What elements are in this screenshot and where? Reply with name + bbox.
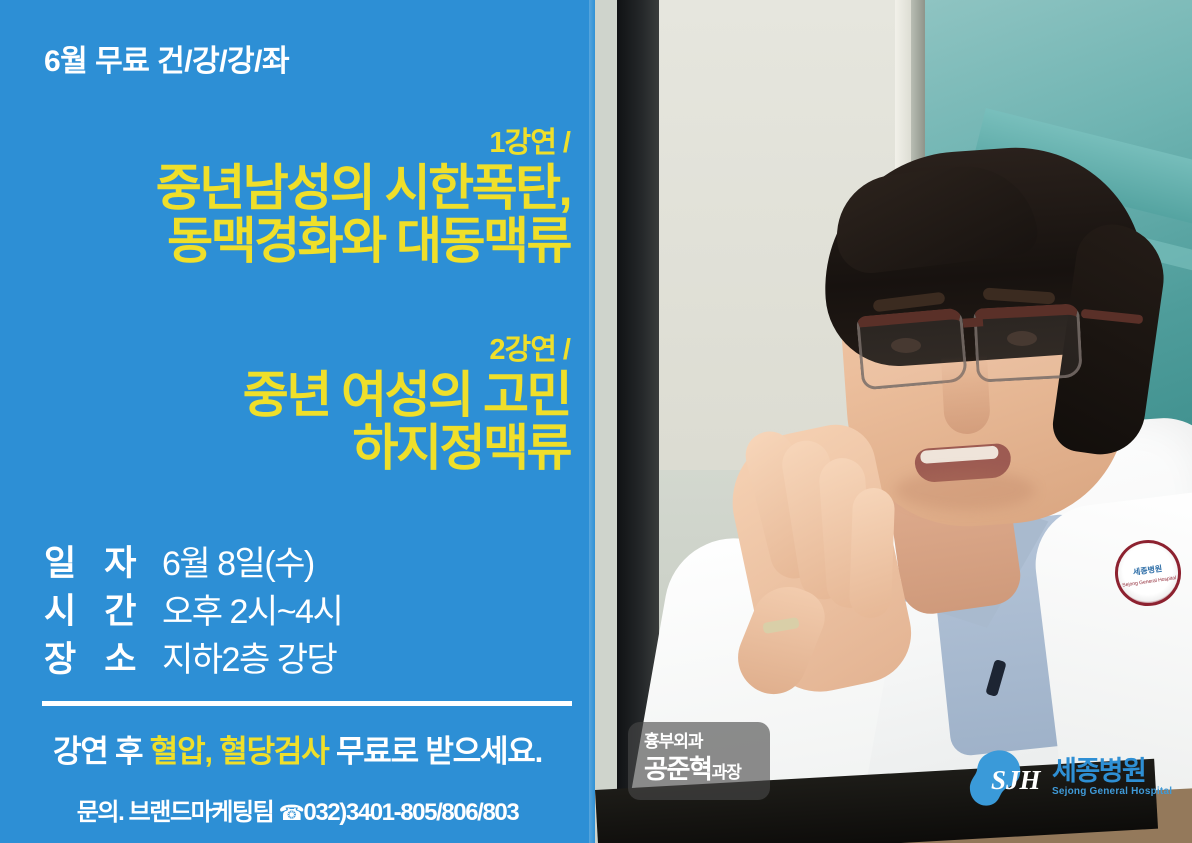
event-details: 일자 6월 8일(수) 시간 오후 2시~4시 장소 지하2층 강당 [44,535,342,679]
phone-icon: ☎ [279,802,304,825]
doctor-photo: 세종병원 Sejong General Hospital [595,0,1192,843]
lecture-2-title-line1: 중년 여성의 고민 [243,369,570,422]
nameplate-department: 흉부외과 [644,733,770,750]
contact-line: 문의. 브랜드마케팅팀 ☎032)3401-805/806/803 [0,792,595,827]
lecture-2-title-line2: 하지정맥류 [243,422,570,475]
nameplate-name-row: 공준혁과장 [644,756,770,782]
nameplate-title: 과장 [712,763,741,782]
eyeglass-lens-right [973,303,1083,382]
lecture-block-1: 1강연 / 중년남성의 시한폭탄, 동맥경화와 대동맥류 [156,128,570,268]
sjh-mark-icon: SJH [967,748,1045,808]
promo-before: 강연 후 [53,734,150,769]
teeth [920,446,999,464]
detail-value-time: 오후 2시~4시 [162,584,342,633]
info-panel: 6월 무료 건/강/강/좌 1강연 / 중년남성의 시한폭탄, 동맥경화와 대동… [0,0,595,843]
detail-value-place: 지하2층 강당 [162,632,336,681]
nose [941,355,991,435]
event-detail-row-date: 일자 6월 8일(수) [44,535,342,583]
detail-label-time: 시간 [44,583,162,634]
hospital-logo: SJH 세종병원 Sejong General Hospital [967,748,1172,808]
lecture-2-label: 2강연 / [243,335,570,365]
seminar-poster: 세종병원 Sejong General Hospital [0,0,1192,843]
promo-after: 무료로 받으세요. [329,734,542,769]
eyeglass-bridge [963,317,984,327]
section-divider [42,701,572,706]
promo-highlight: 혈압, 혈당검사 [150,734,329,769]
lecture-1-title-line1: 중년남성의 시한폭탄, [156,162,570,215]
logo-wordmark: 세종병원 Sejong General Hospital [1052,758,1172,799]
doctor-figure: 세종병원 Sejong General Hospital [595,0,1192,843]
promo-text: 강연 후 혈압, 혈당검사 무료로 받으세요. [0,726,595,771]
detail-value-date: 6월 8일(수) [162,536,314,585]
lecture-2-title: 중년 여성의 고민 하지정맥류 [243,369,570,475]
finger-little [849,487,896,618]
contact-number: 032)3401-805/806/803 [303,799,518,826]
lecture-1-title: 중년남성의 시한폭탄, 동맥경화와 대동맥류 [156,162,570,268]
nameplate-name: 공준혁 [644,754,712,784]
svg-text:SJH: SJH [991,765,1042,795]
event-detail-row-place: 장소 지하2층 강당 [44,631,342,679]
logo-name-korean: 세종병원 [1052,758,1172,785]
logo-name-english: Sejong General Hospital [1052,787,1172,797]
lecture-block-2: 2강연 / 중년 여성의 고민 하지정맥류 [243,335,570,475]
contact-prefix: 문의. 브랜드마케팅팀 [77,799,279,826]
chin-shadow [895,470,1035,510]
detail-label-date: 일자 [44,535,162,586]
event-detail-row-time: 시간 오후 2시~4시 [44,583,342,631]
lecture-1-title-line2: 동맥경화와 대동맥류 [156,215,570,268]
poster-kicker: 6월 무료 건/강/강/좌 [44,36,289,80]
doctor-nameplate: 흉부외과 공준혁과장 [628,722,770,800]
lecture-1-label: 1강연 / [156,128,570,158]
detail-label-place: 장소 [44,631,162,682]
